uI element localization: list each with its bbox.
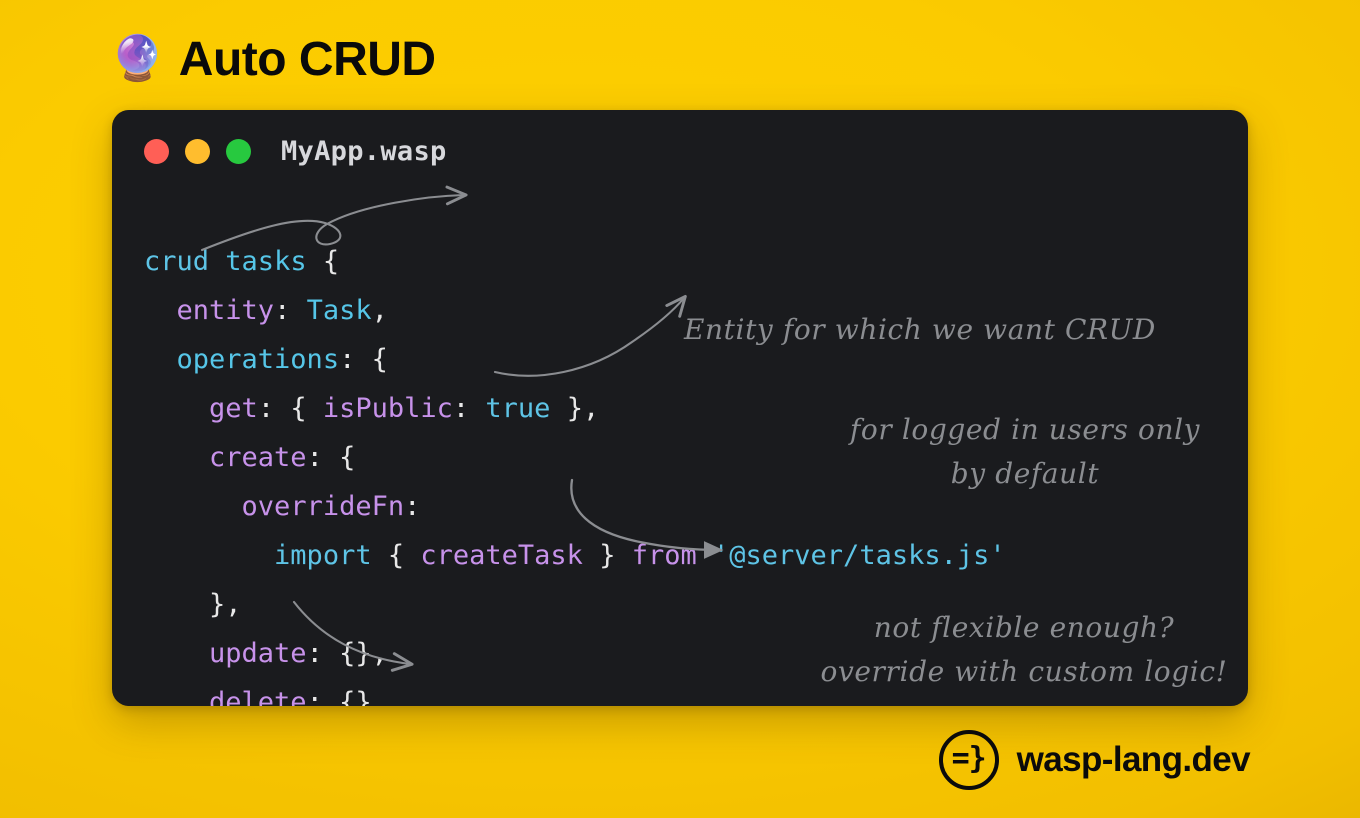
crystal-ball-icon: 🔮: [110, 37, 165, 81]
code-line: crud tasks {: [144, 237, 1006, 286]
code-token: [209, 246, 225, 277]
code-window-titlebar: MyApp.wasp: [112, 110, 1248, 192]
annotation-line: for logged in users only: [834, 408, 1216, 452]
code-token: : {}: [307, 687, 372, 706]
code-token: delete: [209, 687, 307, 706]
maximize-button[interactable]: [226, 139, 251, 164]
page-title: 🔮 Auto CRUD: [110, 26, 436, 92]
code-token: get: [209, 393, 258, 424]
close-button[interactable]: [144, 139, 169, 164]
annotation-entity: Entity for which we want CRUD: [684, 308, 1156, 352]
code-token: : {},: [307, 638, 388, 669]
wasp-brand-footer[interactable]: =} wasp-lang.dev: [939, 730, 1250, 790]
code-token: {: [307, 246, 340, 277]
code-line: import { createTask } from '@server/task…: [144, 531, 1006, 580]
wasp-logo-glyph: =}: [952, 744, 986, 774]
code-token: Task: [307, 295, 372, 326]
wasp-logo-label: wasp-lang.dev: [1017, 740, 1250, 780]
code-token: :: [404, 491, 420, 522]
code-token: : {: [339, 344, 388, 375]
code-token: operations: [177, 344, 340, 375]
code-token: crud: [144, 246, 209, 277]
code-token: entity: [177, 295, 275, 326]
code-token: :: [453, 393, 486, 424]
code-token: :: [274, 295, 307, 326]
code-token: isPublic: [323, 393, 453, 424]
code-token: : {: [258, 393, 323, 424]
annotation-line: override with custom logic!: [812, 650, 1236, 694]
code-token: },: [550, 393, 599, 424]
code-token: },: [209, 589, 242, 620]
code-token: }: [583, 540, 632, 571]
code-token: : {: [307, 442, 356, 473]
slide-canvas: 🔮 Auto CRUD MyApp.wasp crud tasks { enti…: [0, 0, 1360, 818]
code-token: create: [209, 442, 307, 473]
wasp-logo-icon: =}: [939, 730, 999, 790]
minimize-button[interactable]: [185, 139, 210, 164]
code-token: update: [209, 638, 307, 669]
code-token: import: [274, 540, 372, 571]
annotation-override: not flexible enough?override with custom…: [812, 606, 1236, 694]
code-token: true: [485, 393, 550, 424]
annotation-line: by default: [834, 452, 1216, 496]
code-token: createTask: [420, 540, 583, 571]
code-token: from: [632, 540, 697, 571]
code-token: [697, 540, 713, 571]
code-window: MyApp.wasp crud tasks { entity: Task, op…: [112, 110, 1248, 706]
annotation-auth: for logged in users onlyby default: [834, 408, 1216, 496]
code-token: tasks: [225, 246, 306, 277]
page-title-label: Auto CRUD: [179, 32, 436, 87]
code-token: '@server/tasks.js': [713, 540, 1006, 571]
code-token: {: [372, 540, 421, 571]
filename-label: MyApp.wasp: [281, 136, 447, 167]
code-token: ,: [372, 295, 388, 326]
code-token: overrideFn: [242, 491, 405, 522]
annotation-line: not flexible enough?: [812, 606, 1236, 650]
